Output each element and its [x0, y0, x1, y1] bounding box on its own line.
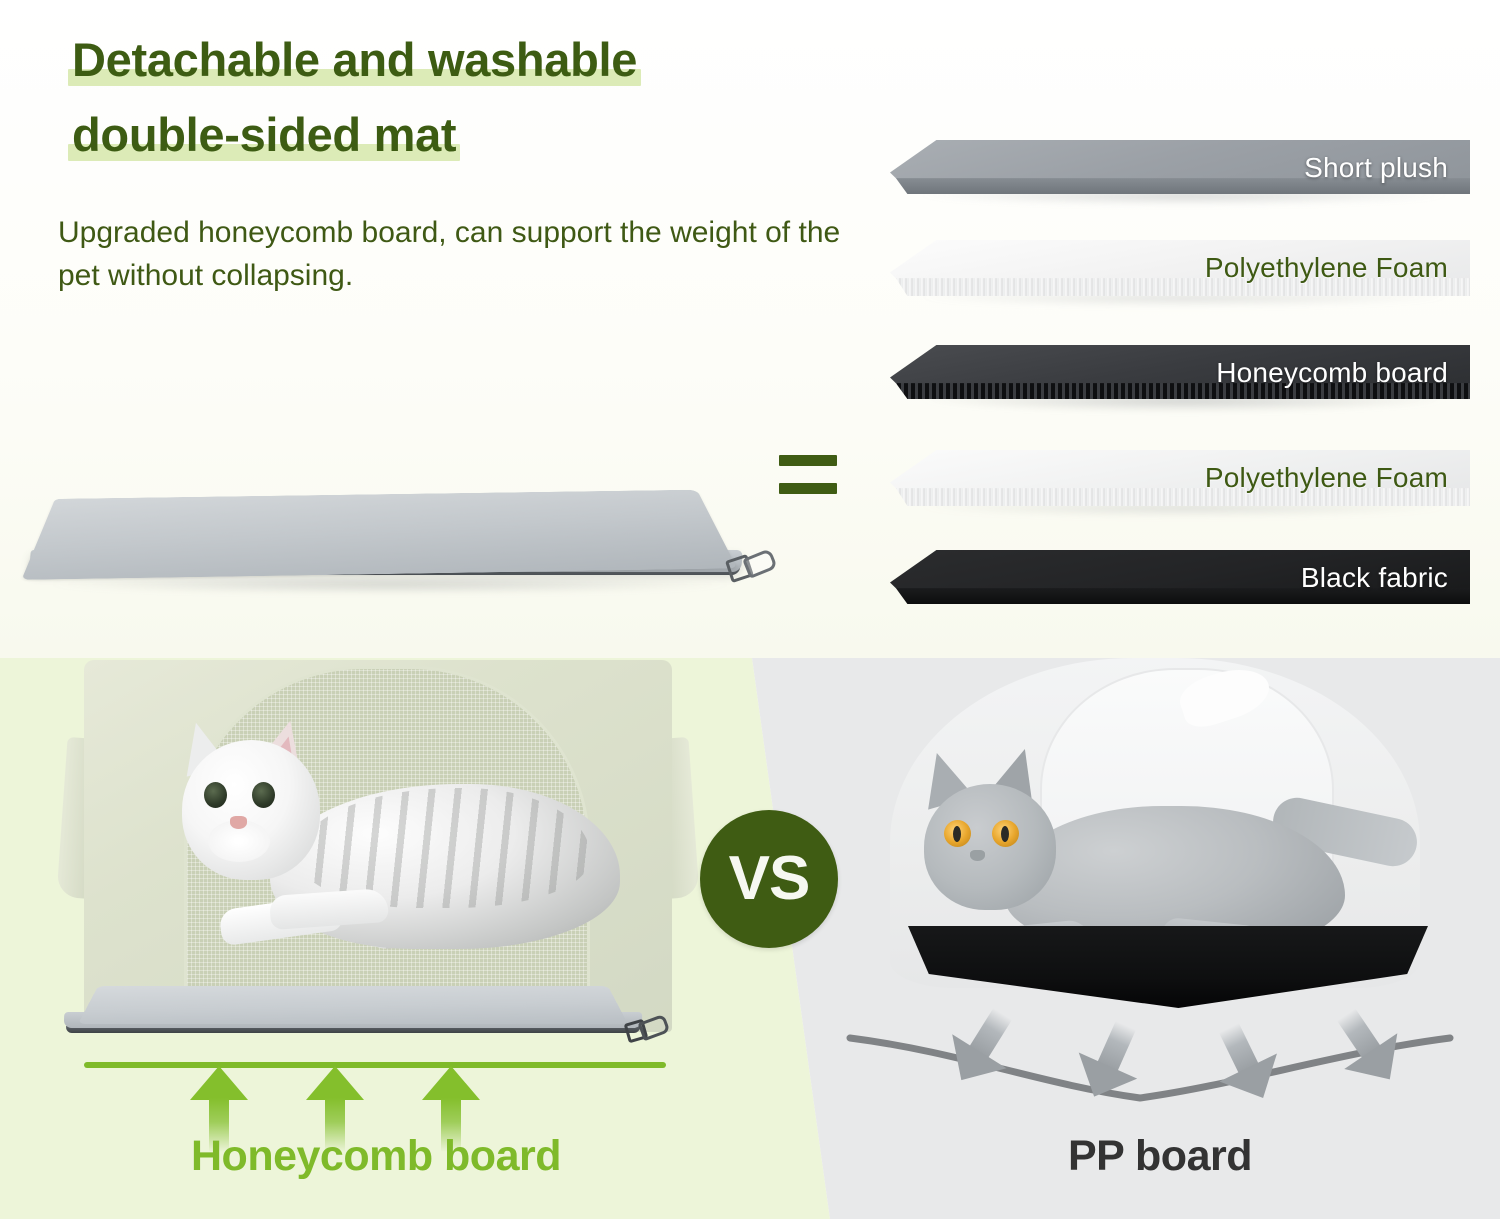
layer-label-black-fabric: Black fabric — [1301, 562, 1448, 594]
vs-badge: VS — [700, 810, 838, 948]
product-mat-image — [10, 405, 800, 615]
layer-label-polyethylene-foam-bottom: Polyethylene Foam — [1205, 462, 1448, 494]
layer-shadow — [914, 397, 1454, 413]
layer-shadow — [914, 192, 1454, 206]
layer-label-honeycomb-board: Honeycomb board — [1216, 357, 1448, 389]
zipper-pull-loop — [742, 548, 778, 579]
headline-line-2-text: double-sided mat — [72, 108, 456, 161]
cat-pupil-right — [1001, 826, 1009, 842]
caption-honeycomb-board: Honeycomb board — [116, 1132, 636, 1181]
equals-bar-top — [779, 455, 837, 466]
cat-eye-right — [252, 782, 275, 808]
mat-top-surface — [21, 490, 737, 580]
headline-block: Detachable and washable double-sided mat — [68, 36, 888, 186]
zipper-pull-icon — [626, 1018, 666, 1044]
caption-pp-board: PP board — [940, 1132, 1380, 1181]
zipper-pull-loop — [638, 1014, 671, 1041]
mat-drop-shadow — [50, 578, 730, 594]
cat-nose — [230, 816, 247, 829]
infographic-page: Detachable and washable double-sided mat… — [0, 0, 1500, 1219]
equals-bar-bottom — [779, 483, 837, 494]
vs-label: VS — [729, 848, 810, 910]
mat-top-surface — [78, 986, 628, 1024]
arrow-head — [306, 1066, 364, 1100]
cat-nose — [970, 850, 985, 861]
cat-eye-left — [204, 782, 227, 808]
honeycomb-mat-under-cat — [48, 942, 658, 1058]
layer-label-polyethylene-foam-top: Polyethylene Foam — [1205, 252, 1448, 284]
headline-line-1-text: Detachable and washable — [72, 33, 637, 86]
headline-line-2: double-sided mat — [68, 111, 460, 158]
equals-sign-icon — [779, 455, 841, 511]
top-section: Detachable and washable double-sided mat… — [0, 0, 1500, 658]
layer-label-short-plush: Short plush — [1304, 152, 1448, 184]
cat-pupil-left — [953, 826, 961, 842]
arrow-head — [422, 1066, 480, 1100]
layer-shadow — [914, 504, 1454, 518]
layer-stack-diagram: Short plush Polyethylene Foam Honeycomb … — [890, 140, 1490, 600]
subheadline: Upgraded honeycomb board, can support th… — [58, 212, 858, 297]
layer-shadow — [914, 294, 1454, 308]
cat-head — [924, 784, 1056, 910]
arrow-head — [190, 1066, 248, 1100]
headline-line-1: Detachable and washable — [68, 36, 641, 83]
zipper-pull-icon — [728, 553, 772, 583]
